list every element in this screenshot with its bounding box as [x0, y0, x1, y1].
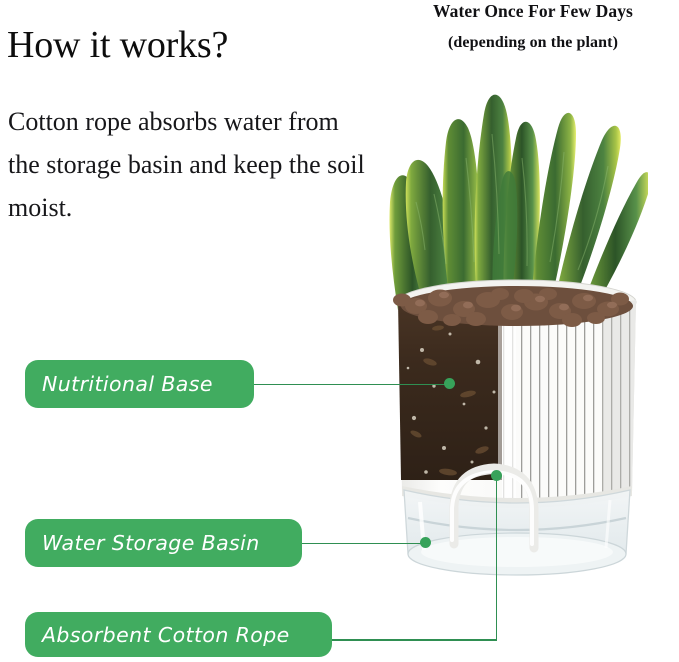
- plant-pot-svg: [386, 62, 648, 590]
- leader-line-nutritional-base: [254, 384, 450, 386]
- watering-instruction-primary: Water Once For Few Days: [389, 0, 677, 22]
- infographic-page: How it works? Cotton rope absorbs water …: [0, 0, 679, 662]
- leader-line-cotton-rope-horizontal: [332, 639, 497, 641]
- callout-badge-nutritional-base[interactable]: Nutritional Base: [25, 360, 254, 408]
- leader-line-water-storage-basin: [302, 543, 426, 545]
- leader-dot-cotton-rope: [491, 470, 502, 481]
- clear-water-reservoir: [404, 490, 630, 575]
- description-text: Cotton rope absorbs water from the stora…: [8, 100, 368, 229]
- leader-dot-water-storage-basin: [420, 537, 431, 548]
- callout-badge-absorbent-cotton-rope[interactable]: Absorbent Cotton Rope: [25, 612, 332, 657]
- plant-pot-illustration: [386, 62, 648, 590]
- page-title: How it works?: [7, 23, 228, 67]
- watering-instruction: Water Once For Few Days (depending on th…: [389, 0, 677, 53]
- pot-ribbed-surface: [502, 298, 638, 498]
- callout-badge-water-storage-basin[interactable]: Water Storage Basin: [25, 519, 302, 567]
- watering-instruction-note: (depending on the plant): [389, 33, 677, 53]
- leader-dot-nutritional-base: [444, 378, 455, 389]
- leader-line-cotton-rope-vertical: [496, 478, 498, 639]
- soil-cutaway: [396, 298, 508, 488]
